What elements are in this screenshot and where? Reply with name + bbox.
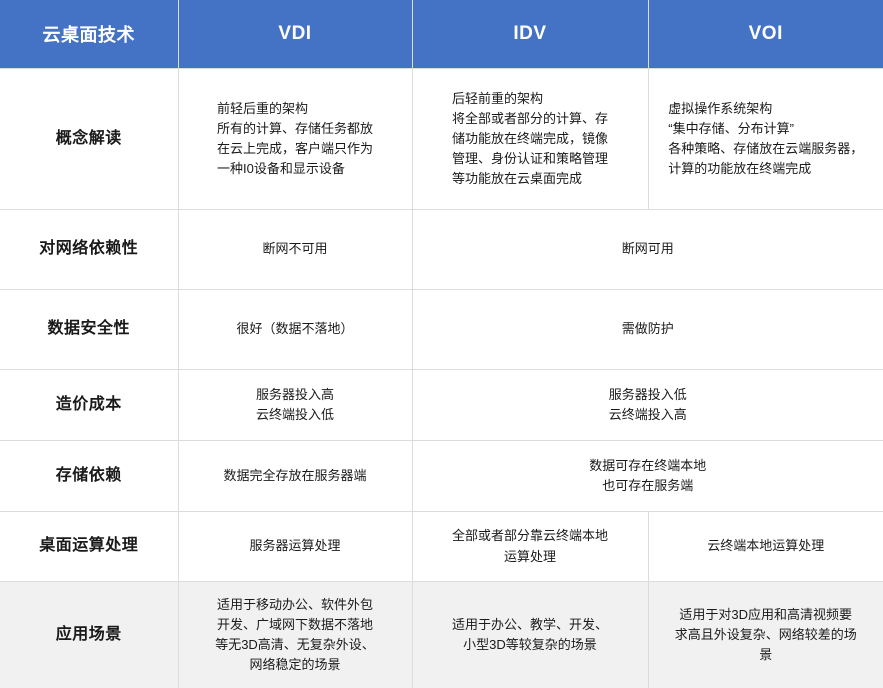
cell-text: 很好（数据不落地） xyxy=(236,319,353,339)
header-cell-label: 云桌面技术 xyxy=(0,0,178,69)
table-header: 云桌面技术 VDI IDV VOI xyxy=(0,0,883,69)
cell-text: 服务器投入高 云终端投入低 xyxy=(256,385,334,425)
table-row: 存储依赖 数据完全存放在服务器端 数据可存在终端本地 也可存在服务端 xyxy=(0,441,883,512)
cell-compute-vdi: 服务器运算处理 xyxy=(178,512,412,582)
row-label-concept: 概念解读 xyxy=(0,69,178,210)
table-row: 概念解读 前轻后重的架构 所有的计算、存储任务都放 在云上完成，客户端只作为 一… xyxy=(0,69,883,210)
cell-storage-idv-voi-merged: 数据可存在终端本地 也可存在服务端 xyxy=(412,441,883,512)
cell-text: 断网不可用 xyxy=(262,239,327,259)
header-cell-idv: IDV xyxy=(412,0,648,69)
cloud-desktop-comparison-table: 云桌面技术 VDI IDV VOI 概念解读 前轻后重的架构 所有的计算、存储任… xyxy=(0,0,883,688)
cell-text: 前轻后重的架构 所有的计算、存储任务都放 在云上完成，客户端只作为 一种I0设备… xyxy=(217,99,373,180)
table-row: 造价成本 服务器投入高 云终端投入低 服务器投入低 云终端投入高 xyxy=(0,370,883,441)
cell-text: 适用于对3D应用和高清视频要 求高且外设复杂、网络较差的场 景 xyxy=(675,605,857,665)
table-body: 概念解读 前轻后重的架构 所有的计算、存储任务都放 在云上完成，客户端只作为 一… xyxy=(0,69,883,688)
header-row: 云桌面技术 VDI IDV VOI xyxy=(0,0,883,69)
cell-concept-vdi: 前轻后重的架构 所有的计算、存储任务都放 在云上完成，客户端只作为 一种I0设备… xyxy=(178,69,412,210)
row-label-storage-dependency: 存储依赖 xyxy=(0,441,178,512)
cell-security-idv-voi-merged: 需做防护 xyxy=(412,290,883,370)
table-row: 对网络依赖性 断网不可用 断网可用 xyxy=(0,210,883,290)
cell-storage-vdi: 数据完全存放在服务器端 xyxy=(178,441,412,512)
row-label-cost: 造价成本 xyxy=(0,370,178,441)
cell-compute-voi: 云终端本地运算处理 xyxy=(648,512,883,582)
cell-scene-vdi: 适用于移动办公、软件外包 开发、广域网下数据不落地 等无3D高清、无复杂外设、 … xyxy=(178,582,412,688)
cell-text: 服务器运算处理 xyxy=(249,536,340,556)
cell-network-idv-voi-merged: 断网可用 xyxy=(412,210,883,290)
header-cell-voi: VOI xyxy=(648,0,883,69)
cell-text: 全部或者部分靠云终端本地 运算处理 xyxy=(452,526,608,566)
table-row: 应用场景 适用于移动办公、软件外包 开发、广域网下数据不落地 等无3D高清、无复… xyxy=(0,582,883,688)
cell-text: 虚拟操作系统架构 “集中存储、分布计算” 各种策略、存储放在云端服务器， 计算的… xyxy=(668,99,863,180)
row-label-network-dependency: 对网络依赖性 xyxy=(0,210,178,290)
cell-security-vdi: 很好（数据不落地） xyxy=(178,290,412,370)
cell-text: 断网可用 xyxy=(622,239,674,259)
cell-text: 适用于办公、教学、开发、 小型3D等较复杂的场景 xyxy=(452,615,608,655)
cell-text: 需做防护 xyxy=(622,319,674,339)
cell-text: 云终端本地运算处理 xyxy=(707,536,824,556)
cell-cost-idv-voi-merged: 服务器投入低 云终端投入高 xyxy=(412,370,883,441)
row-label-desktop-compute: 桌面运算处理 xyxy=(0,512,178,582)
cell-scene-idv: 适用于办公、教学、开发、 小型3D等较复杂的场景 xyxy=(412,582,648,688)
cell-compute-idv: 全部或者部分靠云终端本地 运算处理 xyxy=(412,512,648,582)
row-label-use-cases: 应用场景 xyxy=(0,582,178,688)
cell-scene-voi: 适用于对3D应用和高清视频要 求高且外设复杂、网络较差的场 景 xyxy=(648,582,883,688)
row-label-data-security: 数据安全性 xyxy=(0,290,178,370)
table-row: 数据安全性 很好（数据不落地） 需做防护 xyxy=(0,290,883,370)
table-row: 桌面运算处理 服务器运算处理 全部或者部分靠云终端本地 运算处理 云终端本地运算… xyxy=(0,512,883,582)
cell-text: 服务器投入低 云终端投入高 xyxy=(609,385,687,425)
cell-concept-voi: 虚拟操作系统架构 “集中存储、分布计算” 各种策略、存储放在云端服务器， 计算的… xyxy=(648,69,883,210)
cell-text: 数据完全存放在服务器端 xyxy=(223,466,366,486)
cell-text: 数据可存在终端本地 也可存在服务端 xyxy=(589,456,706,496)
cell-concept-idv: 后轻前重的架构 将全部或者部分的计算、存 储功能放在终端完成，镜像 管理、身份认… xyxy=(412,69,648,210)
header-cell-vdi: VDI xyxy=(178,0,412,69)
cell-network-vdi: 断网不可用 xyxy=(178,210,412,290)
cell-cost-vdi: 服务器投入高 云终端投入低 xyxy=(178,370,412,441)
cell-text: 后轻前重的架构 将全部或者部分的计算、存 储功能放在终端完成，镜像 管理、身份认… xyxy=(452,89,608,190)
cell-text: 适用于移动办公、软件外包 开发、广域网下数据不落地 等无3D高清、无复杂外设、 … xyxy=(215,595,375,676)
